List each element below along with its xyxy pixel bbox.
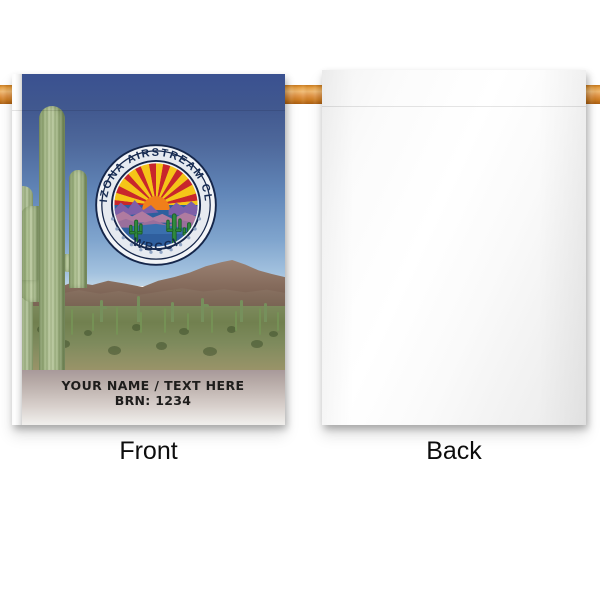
distant-saguaro [137, 296, 140, 322]
front-label: Front [12, 437, 285, 466]
distant-saguaro [240, 300, 243, 322]
distant-saguaro [201, 304, 209, 307]
flag-mockup-stage: YOUR NAME / TEXT HERE BRN: 1234 [0, 0, 600, 600]
distant-saguaro [201, 298, 204, 322]
saguaro-right-arm [69, 170, 87, 288]
front-flag-artwork: YOUR NAME / TEXT HERE BRN: 1234 [21, 74, 285, 425]
back-flag[interactable] [322, 70, 586, 425]
back-flag-blank-surface [322, 70, 586, 425]
custom-name-text: YOUR NAME / TEXT HERE [21, 378, 285, 393]
distant-saguaro [100, 306, 107, 309]
personalization-text-band: YOUR NAME / TEXT HERE BRN: 1234 [21, 370, 285, 425]
main-saguaro-cactus [39, 106, 65, 374]
brn-number-text: BRN: 1234 [21, 393, 285, 408]
distant-saguaro [264, 303, 267, 322]
arizona-airstream-club-logo: ARIZONA AIRSTREAM CLUB WBCCI [93, 142, 219, 268]
front-flag[interactable]: YOUR NAME / TEXT HERE BRN: 1234 [12, 74, 285, 425]
back-label: Back [322, 437, 586, 466]
distant-saguaro [100, 300, 103, 322]
saguaro-left-elbow [21, 280, 41, 302]
